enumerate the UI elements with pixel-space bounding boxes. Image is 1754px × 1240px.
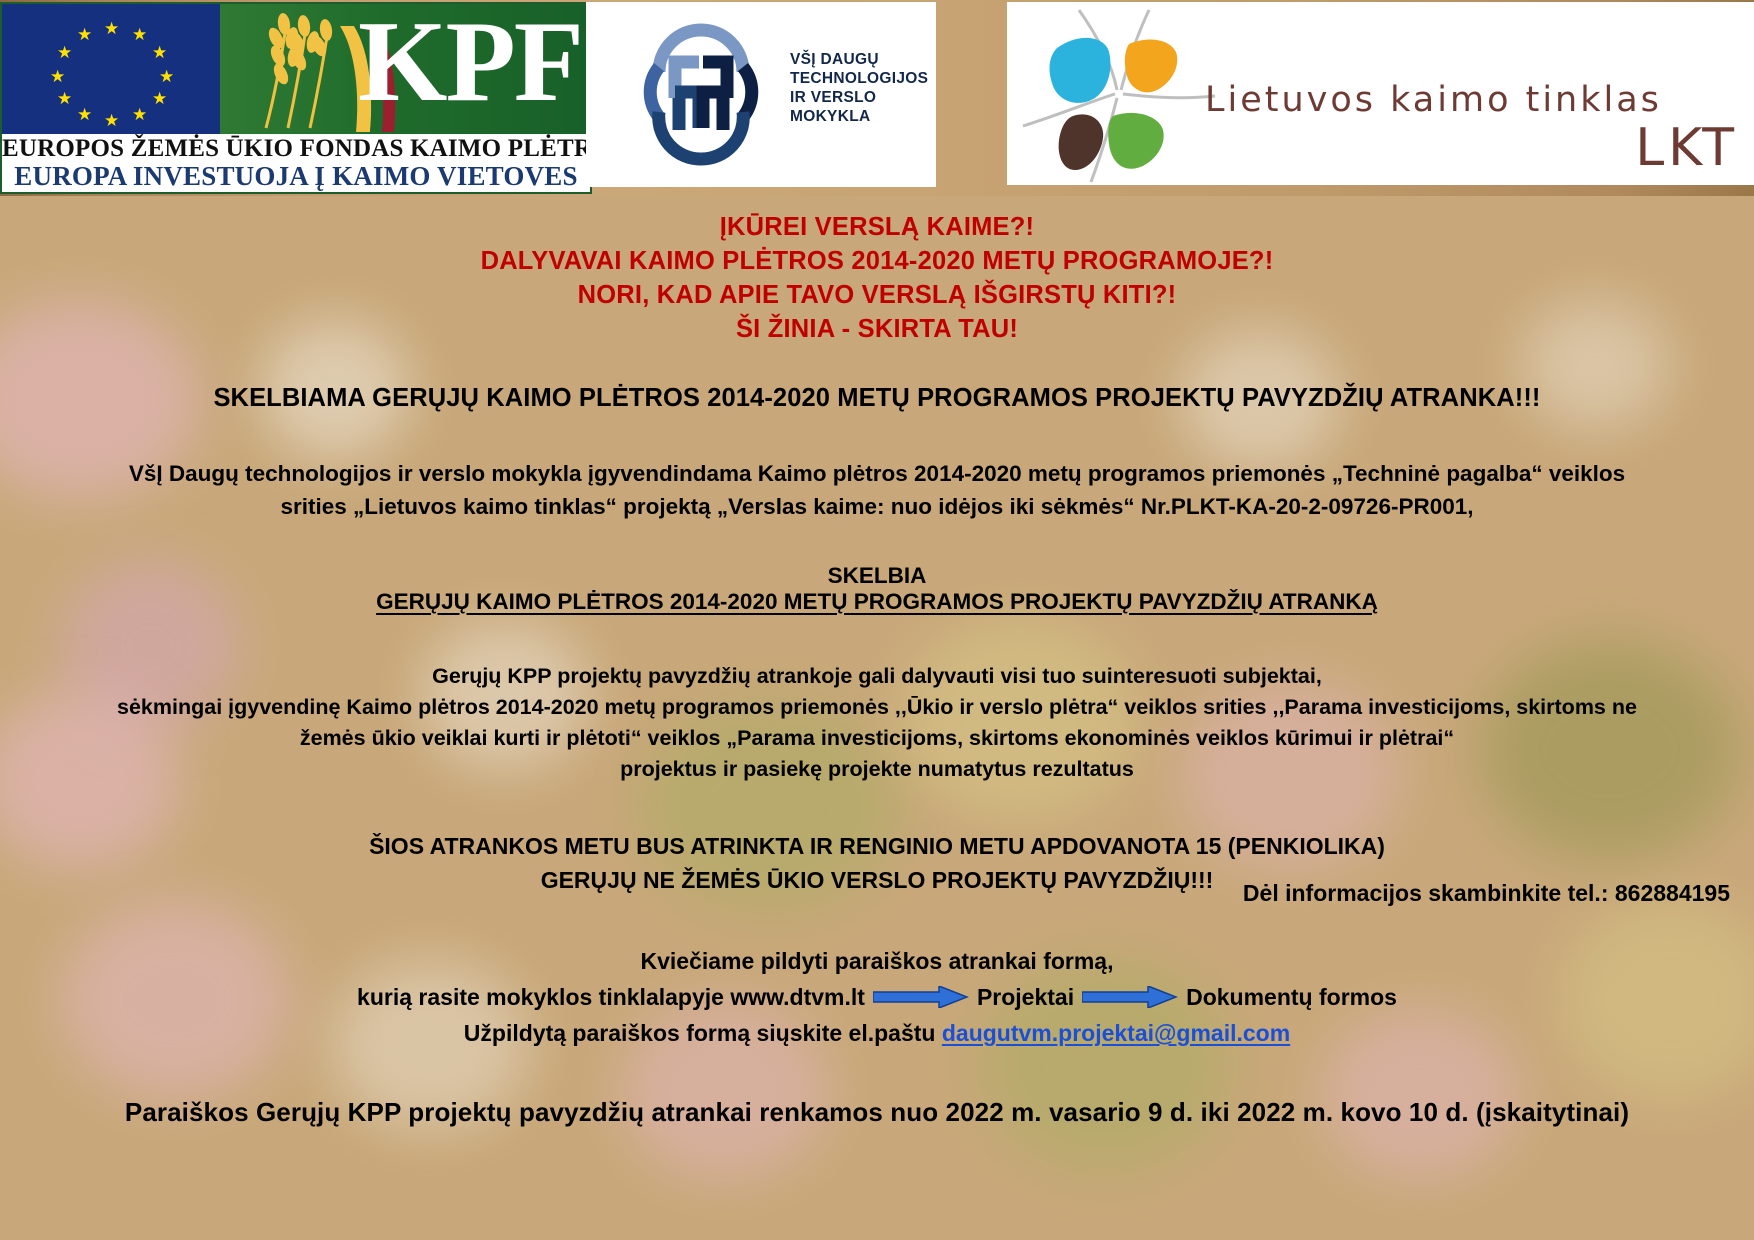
arrow-right-icon (1082, 986, 1178, 1008)
contact-phone: Dėl informacijos skambinkite tel.: 86288… (1243, 880, 1730, 907)
kpf-caption-line2: EUROPA INVESTUOJA Į KAIMO VIETOVES (2, 161, 590, 192)
lkt-abbreviation: LKT (1635, 118, 1738, 178)
kpf-caption-line1: EUROPOS ŽEMĖS ŪKIO FONDAS KAIMO PLĖTRAI: (2, 135, 590, 163)
kpf-green-panel: KPF (220, 4, 590, 134)
dtvm-wordmark: VŠĮ DAUGŲ TECHNOLOGIJOS IR VERSLO MOKYKL… (790, 50, 928, 126)
dtvm-line2: TECHNOLOGIJOS (790, 69, 928, 88)
poster-content: ĮKŪREI VERSLĄ KAIME?! DALYVAVAI KAIMO PL… (0, 196, 1754, 1128)
dtvm-line4: MOKYKLA (790, 107, 928, 126)
eu-flag-icon: ★ ★ ★ ★ ★ ★ ★ ★ ★ ★ ★ ★ (2, 4, 220, 134)
eligibility-paragraph: Gerųjų KPP projektų pavyzdžių atrankoje … (77, 661, 1677, 785)
poster-root: ★ ★ ★ ★ ★ ★ ★ ★ ★ ★ ★ ★ (0, 0, 1754, 1240)
logo-lkt: Lietuvos kaimo tinklas LKT (1007, 2, 1754, 185)
intro-line-1: VšĮ Daugų technologijos ir verslo mokykl… (97, 457, 1657, 490)
headline-red-line-4: ŠI ŽINIA - SKIRTA TAU! (0, 312, 1754, 346)
skelbia-label: SKELBIA (0, 563, 1754, 589)
eligibility-line-1: Gerųjų KPP projektų pavyzdžių atrankoje … (77, 661, 1677, 692)
lkt-wordmark: Lietuvos kaimo tinklas (1205, 80, 1662, 120)
page-title: SKELBIAMA GERŲJŲ KAIMO PLĖTROS 2014-2020… (0, 384, 1754, 413)
invitation-email-line: Užpildytą paraiškos formą siųskite el.pa… (0, 1015, 1754, 1051)
intro-paragraph: VšĮ Daugų technologijos ir verslo mokykl… (97, 457, 1657, 523)
invitation-email-prefix: Užpildytą paraiškos formą siųskite el.pa… (464, 1020, 942, 1046)
selection-line-1: ŠIOS ATRANKOS METU BUS ATRINKTA IR RENGI… (0, 829, 1754, 863)
headline-red-line-1: ĮKŪREI VERSLĄ KAIME?! (0, 210, 1754, 244)
invitation-step-2[interactable]: Dokumentų formos (1186, 979, 1397, 1015)
headline-red-line-3: NORI, KAD APIE TAVO VERSLĄ IŠGIRSTŲ KITI… (0, 278, 1754, 312)
dtvm-line3: IR VERSLO (790, 88, 928, 107)
skelbia-heading: GERŲJŲ KAIMO PLĖTROS 2014-2020 METŲ PROG… (0, 589, 1754, 615)
invitation-website-text: kurią rasite mokyklos tinklalapyje www.d… (357, 979, 865, 1015)
arrow-right-icon (873, 986, 969, 1008)
eligibility-line-2: sėkmingai įgyvendinę Kaimo plėtros 2014-… (77, 692, 1677, 723)
deadline-text: Paraiškos Gerųjų KPP projektų pavyzdžių … (0, 1097, 1754, 1128)
invitation-path-line: kurią rasite mokyklos tinklalapyje www.d… (0, 979, 1754, 1015)
eligibility-line-3: žemės ūkio veiklai kurti ir plėtoti“ vei… (77, 723, 1677, 754)
logo-dtvm: VŠĮ DAUGŲ TECHNOLOGIJOS IR VERSLO MOKYKL… (586, 2, 936, 187)
headline-red: ĮKŪREI VERSLĄ KAIME?! DALYVAVAI KAIMO PL… (0, 210, 1754, 346)
kpf-flag-area: ★ ★ ★ ★ ★ ★ ★ ★ ★ ★ ★ ★ (2, 4, 590, 134)
lkt-flower-icon (1017, 4, 1222, 184)
invitation-line-1: Kviečiame pildyti paraiškos atrankai for… (0, 943, 1754, 979)
invitation-step-1[interactable]: Projektai (977, 979, 1074, 1015)
eligibility-line-4: projektus ir pasiekę projekte numatytus … (77, 754, 1677, 785)
logo-bar: ★ ★ ★ ★ ★ ★ ★ ★ ★ ★ ★ ★ (0, 0, 1754, 196)
headline-red-line-2: DALYVAVAI KAIMO PLĖTROS 2014-2020 METŲ P… (0, 244, 1754, 278)
email-link[interactable]: daugutvm.projektai@gmail.com (942, 1020, 1290, 1046)
invitation-block: Kviečiame pildyti paraiškos atrankai for… (0, 943, 1754, 1051)
dtvm-emblem-icon (621, 12, 781, 177)
dtvm-line1: VŠĮ DAUGŲ (790, 50, 928, 69)
intro-line-2: srities „Lietuvos kaimo tinklas“ projekt… (97, 490, 1657, 523)
logo-kpf: ★ ★ ★ ★ ★ ★ ★ ★ ★ ★ ★ ★ (0, 2, 592, 194)
kpf-wordmark: KPF (358, 4, 582, 128)
